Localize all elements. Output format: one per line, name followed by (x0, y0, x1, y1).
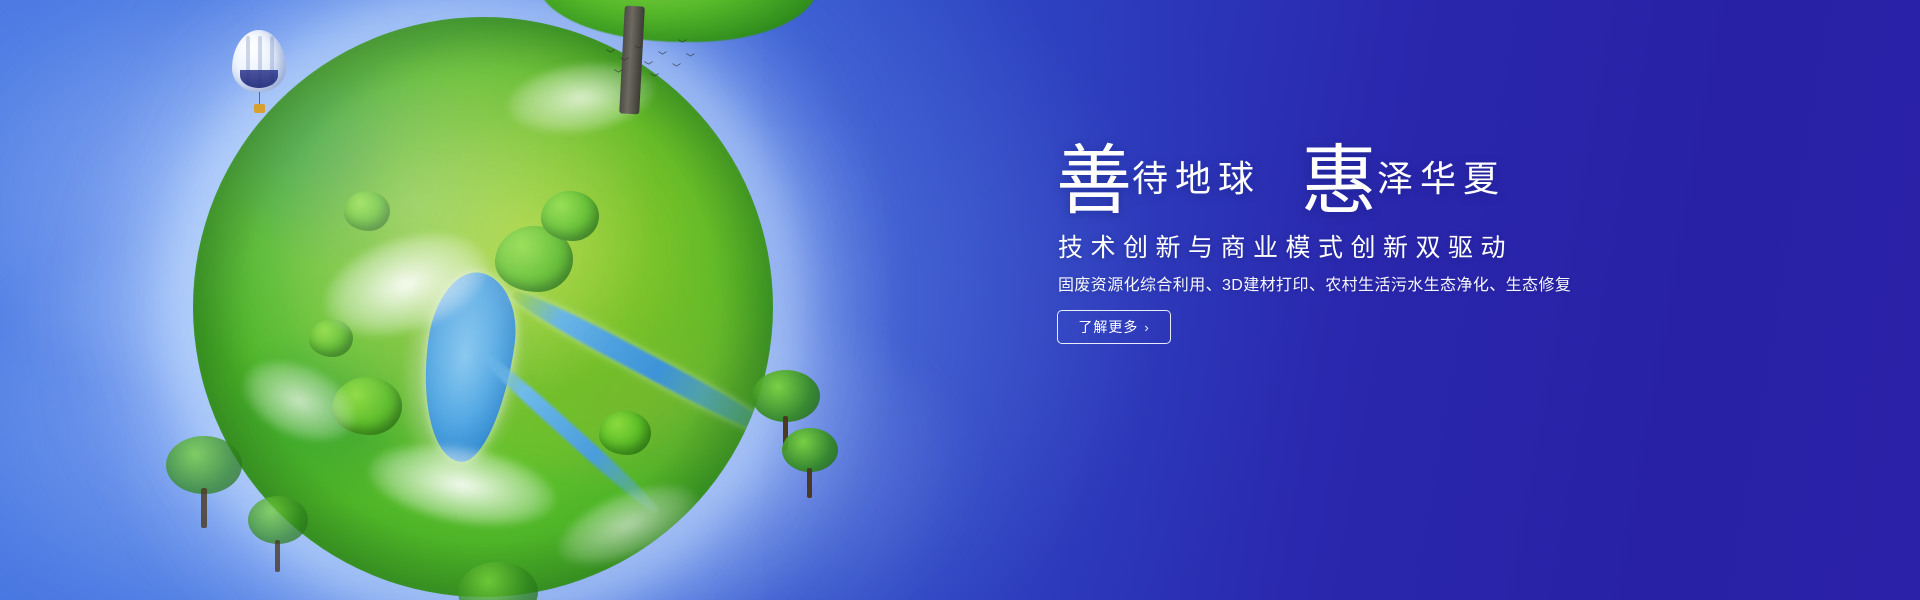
subtitle: 技术创新与商业模式创新双驱动 (1058, 228, 1513, 264)
bird-icon: ﹀ (658, 52, 667, 61)
bird-icon: ﹀ (606, 50, 615, 59)
headline: 善待地球惠泽华夏 (1056, 144, 1506, 220)
headline-rest-1: 待地球 (1132, 159, 1261, 199)
bird-icon: ﹀ (672, 64, 681, 73)
bird-icon: ﹀ (650, 74, 659, 83)
headline-lead-char-1: 善 (1056, 140, 1132, 224)
bird-icon: ﹀ (644, 62, 653, 71)
learn-more-button[interactable]: 了解更多 › (1057, 310, 1171, 344)
bird-icon: ﹀ (614, 70, 623, 79)
description: 固废资源化综合利用、3D建材打印、农村生活污水生态净化、生态修复 (1058, 271, 1571, 295)
bird-icon: ﹀ (678, 40, 687, 49)
hero-banner: ﹀ ﹀ ﹀ ﹀ ﹀ ﹀ ﹀ ﹀ ﹀ ﹀ 善待地球惠泽华夏 技术创新与商业模式创新… (0, 0, 1920, 600)
hot-air-balloon (232, 30, 286, 120)
chevron-right-icon: › (1144, 320, 1149, 335)
tree-crown (538, 0, 818, 42)
large-tree (538, 0, 818, 112)
learn-more-label: 了解更多 (1078, 317, 1138, 337)
bird-icon: ﹀ (620, 58, 629, 67)
bird-icon: ﹀ (634, 46, 643, 55)
headline-lead-char-2: 惠 (1301, 140, 1377, 224)
headline-rest-2: 泽华夏 (1377, 159, 1506, 199)
bird-icon: ﹀ (686, 54, 695, 63)
balloon-basket (254, 104, 265, 113)
banner-content: 善待地球惠泽华夏 技术创新与商业模式创新双驱动 固废资源化综合利用、3D建材打印… (1056, 0, 1696, 600)
